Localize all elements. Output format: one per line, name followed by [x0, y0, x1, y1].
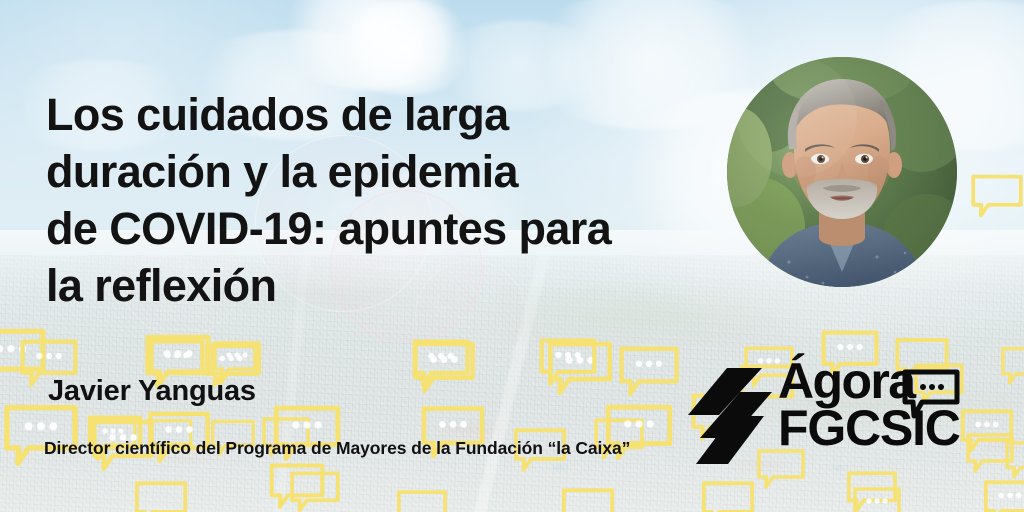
speech-bubble-decoration	[1004, 440, 1024, 478]
portrait-photo	[727, 57, 957, 287]
speech-bubble-decoration	[395, 489, 449, 512]
author-role: Director científico del Programa de Mayo…	[44, 438, 630, 459]
agora-fgcsic-mark-icon	[688, 368, 772, 469]
speech-bubble-decoration	[289, 470, 341, 512]
speech-bubble-decoration	[982, 479, 1024, 512]
author-name: Javier Yanguas	[48, 375, 256, 408]
speech-bubble-decoration	[1000, 345, 1024, 385]
avatar	[727, 57, 957, 287]
speech-bubble-decoration	[411, 340, 477, 392]
speech-bubble-decoration	[132, 480, 190, 512]
speech-bubble-decoration	[852, 486, 902, 512]
speech-bubble-decoration	[538, 337, 598, 385]
speech-bubble-decoration	[970, 173, 1024, 217]
speech-bubble-decoration	[617, 345, 681, 395]
page-title: Los cuidados de larga duración y la epid…	[46, 86, 726, 314]
speech-bubble-icon	[900, 368, 962, 425]
banner-canvas: Los cuidados de larga duración y la epid…	[0, 0, 1024, 512]
speech-bubble-decoration	[700, 480, 756, 512]
agora-fgcsic-logo[interactable]: Ágora FGCSIC	[688, 362, 988, 472]
speech-bubble-decoration	[560, 487, 616, 512]
